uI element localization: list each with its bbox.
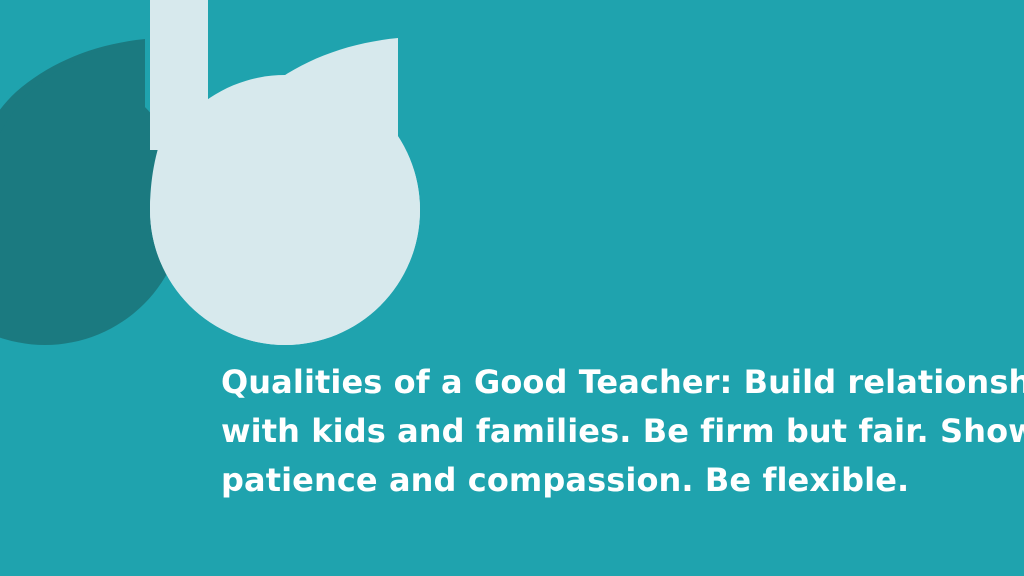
quote-line-1: Qualities of a Good Teacher: Build relat…	[221, 358, 981, 407]
front-quote-bowl	[150, 75, 420, 345]
quote-slide: Qualities of a Good Teacher: Build relat…	[0, 0, 1024, 576]
quote-line-2: with kids and families. Be firm but fair…	[221, 407, 981, 456]
quote-text-block: Qualities of a Good Teacher: Build relat…	[221, 358, 981, 505]
quote-line-3: patience and compassion. Be flexible.	[221, 456, 981, 505]
